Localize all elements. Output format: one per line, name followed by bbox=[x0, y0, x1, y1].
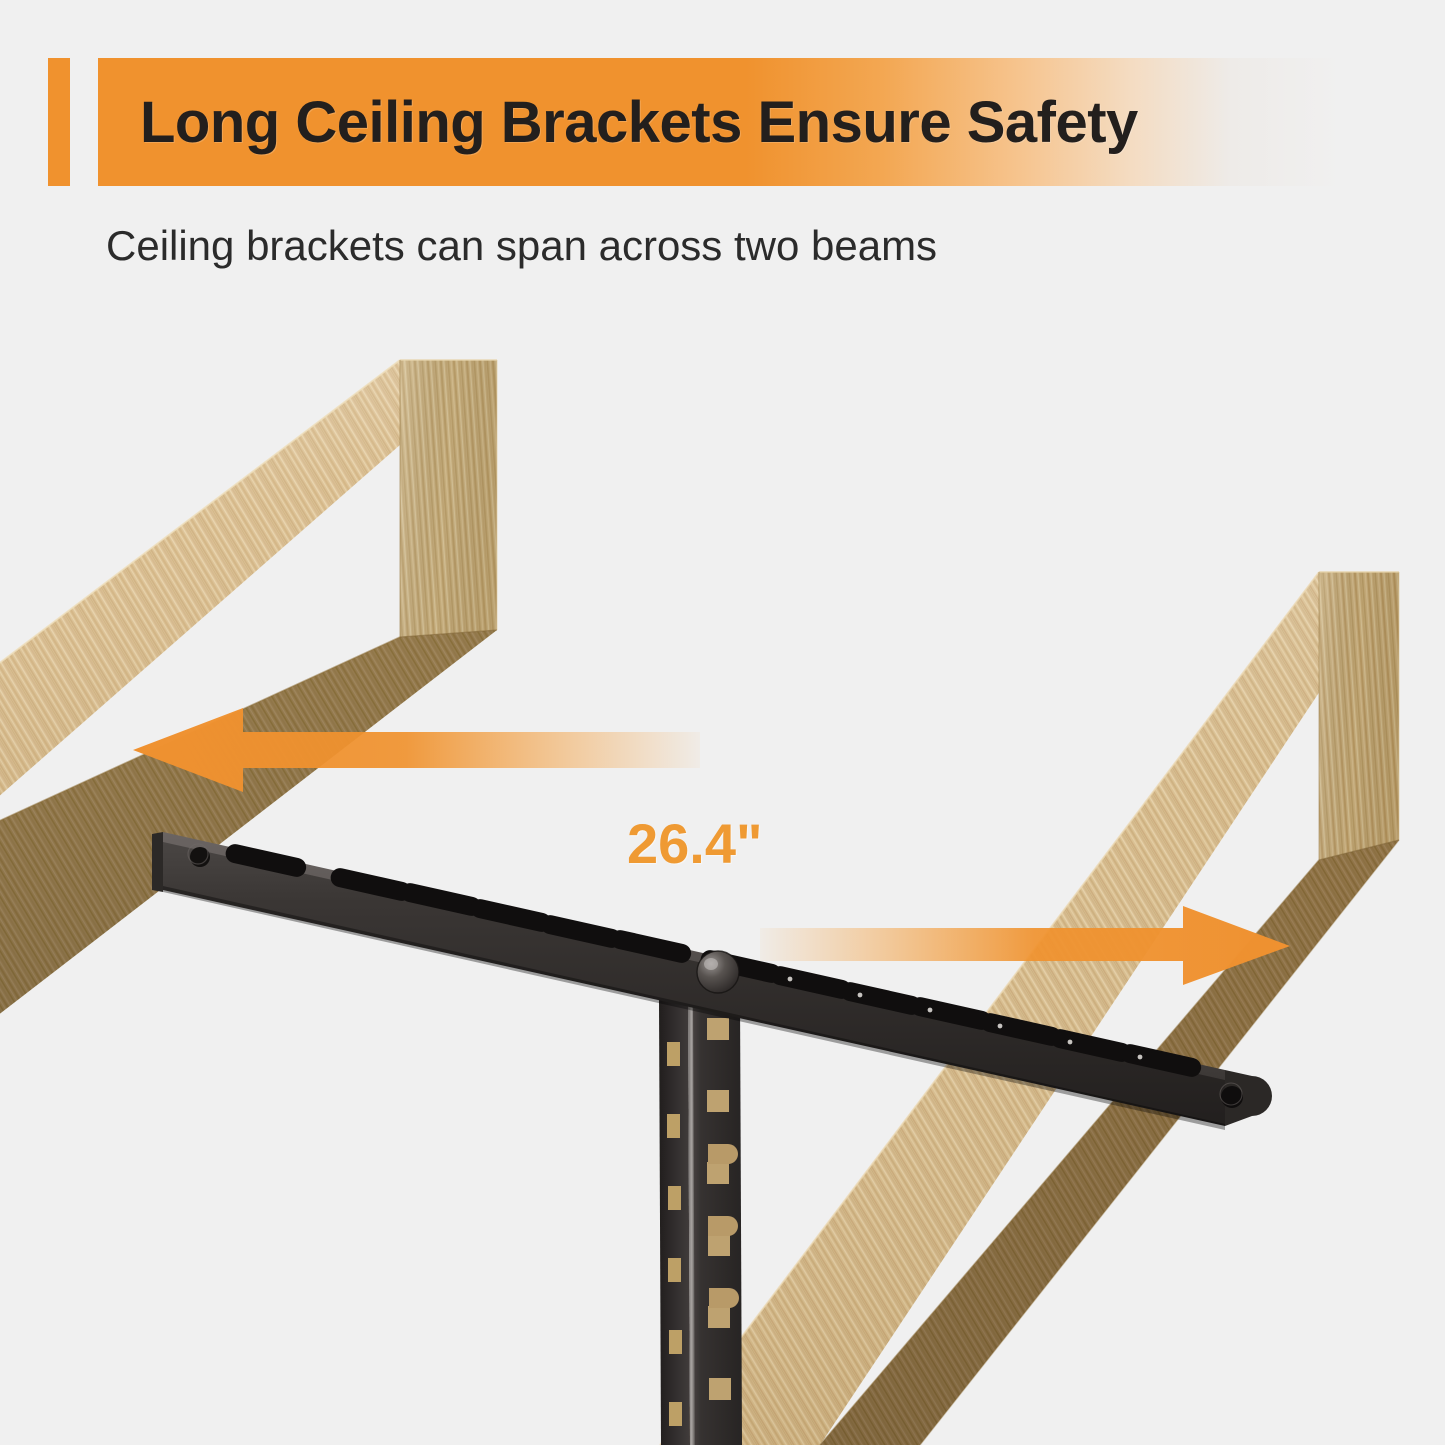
page-subtitle: Ceiling brackets can span across two bea… bbox=[106, 222, 1306, 270]
dimension-label: 26.4" bbox=[627, 811, 763, 876]
bracket-center-bolt bbox=[697, 951, 739, 993]
dimension-arrow-left bbox=[133, 708, 700, 792]
wood-beam-upper-left bbox=[0, 360, 497, 1060]
bracket-vertical-post bbox=[659, 1000, 742, 1445]
product-infographic: Long Ceiling Brackets Ensure Safety Ceil… bbox=[0, 0, 1445, 1445]
title-accent-bar bbox=[48, 58, 70, 186]
bar-left-end-tab bbox=[152, 832, 163, 892]
page-title: Long Ceiling Brackets Ensure Safety bbox=[140, 58, 1390, 186]
post-flange-left bbox=[659, 1000, 690, 1445]
